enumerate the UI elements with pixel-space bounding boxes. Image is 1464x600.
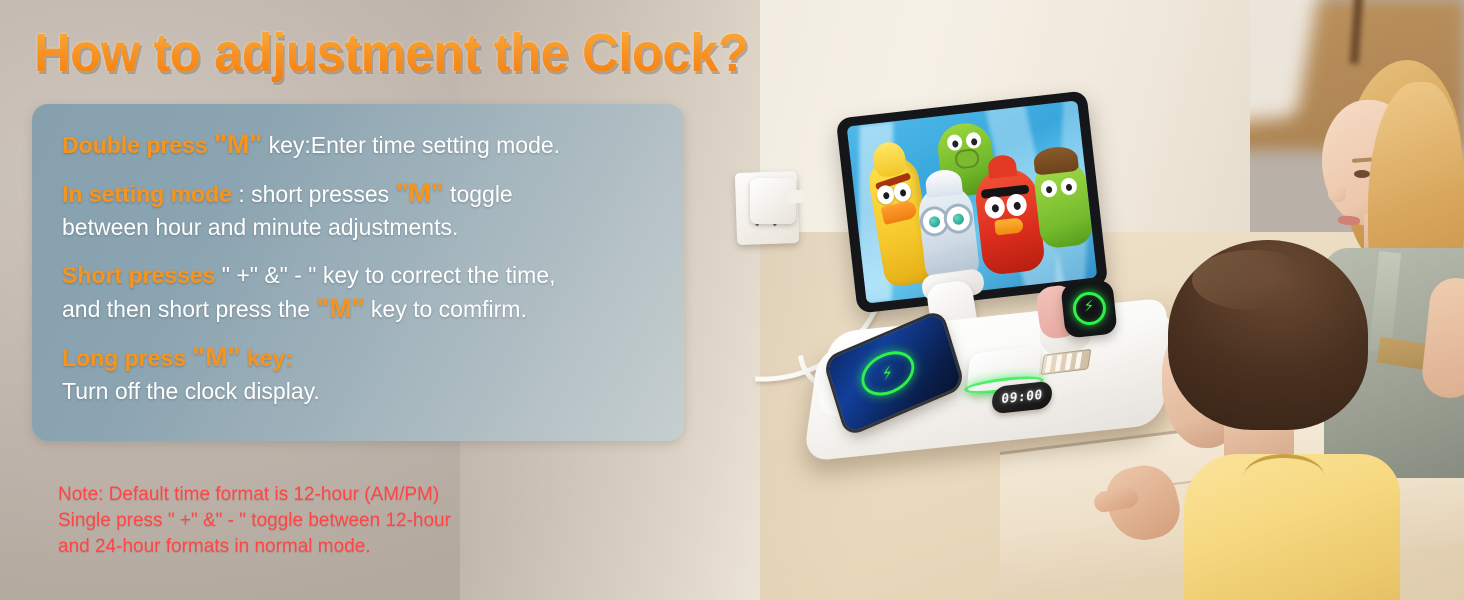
instruction-line: Double press "M" key:Enter time setting … — [62, 128, 654, 162]
note-line-2: Single press " +" &" - " toggle between … — [58, 508, 451, 534]
instruction-line2-pre: and then short press the — [62, 296, 316, 322]
instruction-line-2: between hour and minute adjustments. — [62, 211, 654, 244]
instruction-key: "M" — [316, 293, 364, 323]
note-line-3: and 24-hour formats in normal mode. — [58, 534, 451, 560]
instruction-lead: Long press — [62, 345, 186, 371]
instruction-line-2: Turn off the clock display. — [62, 375, 654, 408]
child-boy — [1148, 240, 1398, 600]
instruction-rest: key:Enter time setting mode. — [262, 132, 560, 158]
instruction-key: "M" — [396, 178, 444, 208]
boy-hair — [1168, 240, 1368, 430]
instruction-key: "M" — [192, 342, 240, 372]
instruction-line: In setting mode : short presses "M" togg… — [62, 177, 654, 211]
instruction-lead: Double press — [62, 132, 208, 158]
page-title: How to adjustment the Clock? — [34, 22, 748, 84]
instruction-line-2: and then short press the "M" key to comf… — [62, 292, 654, 326]
instruction-mid: : short presses — [232, 181, 396, 207]
instruction-rest: " +" &" - " key to correct the time, — [215, 262, 555, 288]
instruction-line2-post: key to comfirm. — [365, 296, 527, 322]
instruction-short-presses: Short presses " +" &" - " key to correct… — [62, 259, 654, 326]
instructions-panel: Double press "M" key:Enter time setting … — [32, 104, 684, 441]
watch-charging-bolt-icon: ⚡ — [1083, 298, 1095, 314]
instruction-line: Short presses " +" &" - " key to correct… — [62, 259, 654, 292]
instruction-rest: toggle — [444, 181, 513, 207]
instruction-long-press: Long press "M" key: Turn off the clock d… — [62, 341, 654, 408]
instruction-key: "M" — [214, 129, 262, 159]
note-line-1: Note: Default time format is 12-hour (AM… — [58, 482, 451, 508]
note-block: Note: Default time format is 12-hour (AM… — [58, 482, 451, 560]
instruction-double-press: Double press "M" key:Enter time setting … — [62, 128, 654, 162]
instruction-line: Long press "M" key: — [62, 341, 654, 375]
smartwatch-device: ⚡ — [1060, 279, 1117, 338]
instruction-lead: Short presses — [62, 262, 215, 288]
infographic-stage: ⚡ ⚡ 09:00 — [0, 0, 1464, 600]
clock-time-value: 09:00 — [1001, 388, 1043, 408]
instruction-lead: In setting mode — [62, 181, 232, 207]
instruction-rest: key: — [240, 345, 292, 371]
instruction-setting-mode: In setting mode : short presses "M" togg… — [62, 177, 654, 244]
